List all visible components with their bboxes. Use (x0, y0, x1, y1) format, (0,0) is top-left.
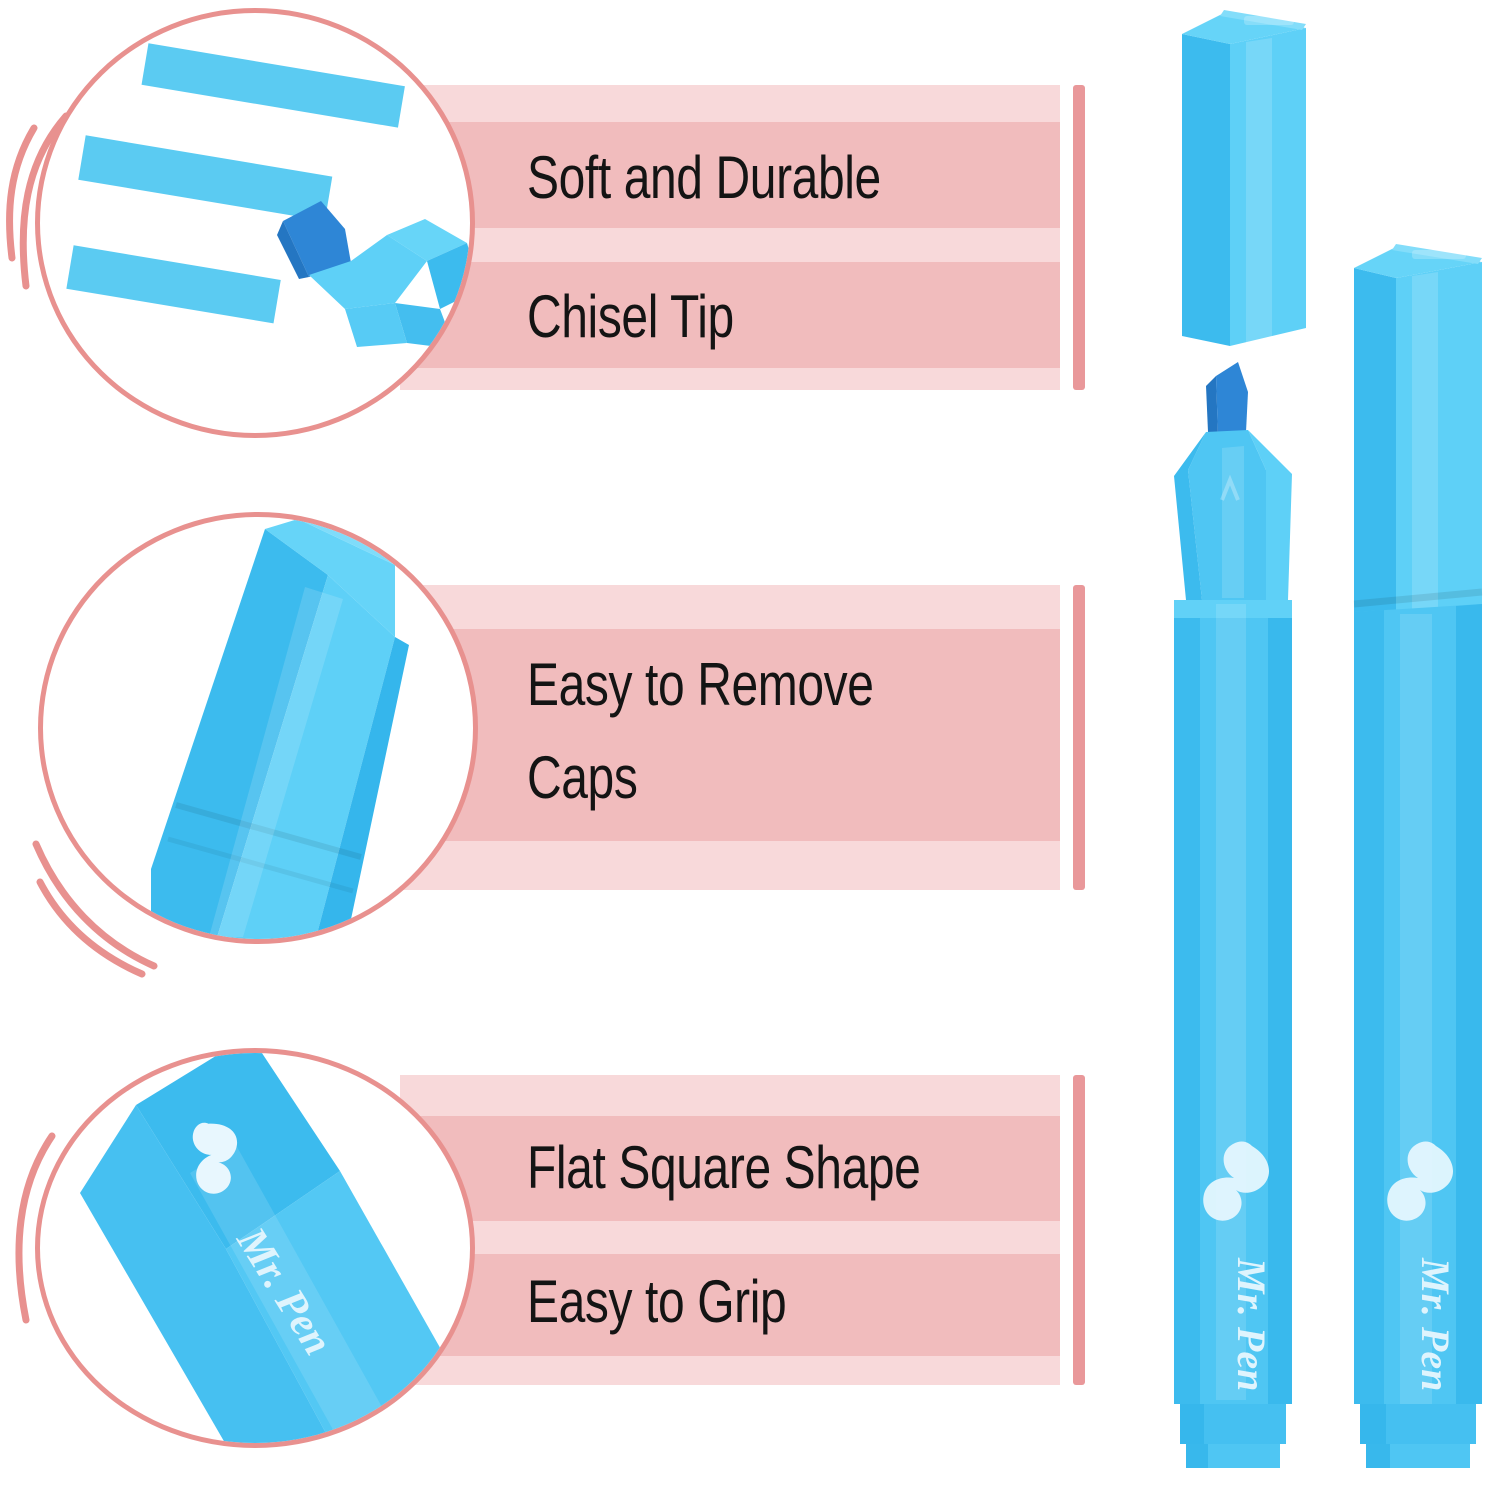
band-light (400, 228, 1060, 262)
accent-bar-3 (1073, 1075, 1085, 1385)
highlighter-body-logo-icon: Mr. Pen (40, 1053, 475, 1448)
band-light (400, 368, 1060, 390)
feature-band-group-2 (400, 585, 1060, 890)
chisel-tip-icon (275, 191, 475, 371)
band-light (400, 841, 1060, 890)
band-light (400, 1075, 1060, 1116)
accent-bar-1 (1073, 85, 1085, 390)
callout-circle-chisel-tip (35, 8, 475, 438)
feature-band-group-3 (400, 1075, 1060, 1385)
band-light (400, 1356, 1060, 1385)
band-light (400, 1221, 1060, 1254)
band-light (400, 85, 1060, 122)
feature-1-line-1: Soft and Durable (527, 148, 881, 208)
highlighter-stroke-1 (142, 43, 405, 127)
highlighter-cap-icon (43, 517, 478, 944)
uncapped-highlighter: Mr. Pen (1160, 0, 1350, 1486)
svg-text:Mr. Pen: Mr. Pen (1229, 1257, 1274, 1391)
callout-circle-flat-square: Mr. Pen (35, 1048, 475, 1448)
callout-circle-easy-caps (38, 512, 478, 944)
highlighter-stroke-3 (66, 245, 280, 323)
feature-1-line-2: Chisel Tip (527, 287, 734, 347)
feature-2-line-2: Caps (527, 748, 637, 808)
feature-3-line-2: Easy to Grip (527, 1272, 786, 1332)
svg-text:Mr. Pen: Mr. Pen (1413, 1257, 1458, 1391)
feature-2-line-1: Easy to Remove (527, 655, 874, 715)
accent-bar-2 (1073, 585, 1085, 890)
product-infographic: Soft and Durable Chisel Tip Easy to Remo… (0, 0, 1500, 1486)
band-light (400, 585, 1060, 629)
capped-highlighter: Mr. Pen (1342, 0, 1500, 1486)
feature-3-line-1: Flat Square Shape (527, 1138, 920, 1198)
